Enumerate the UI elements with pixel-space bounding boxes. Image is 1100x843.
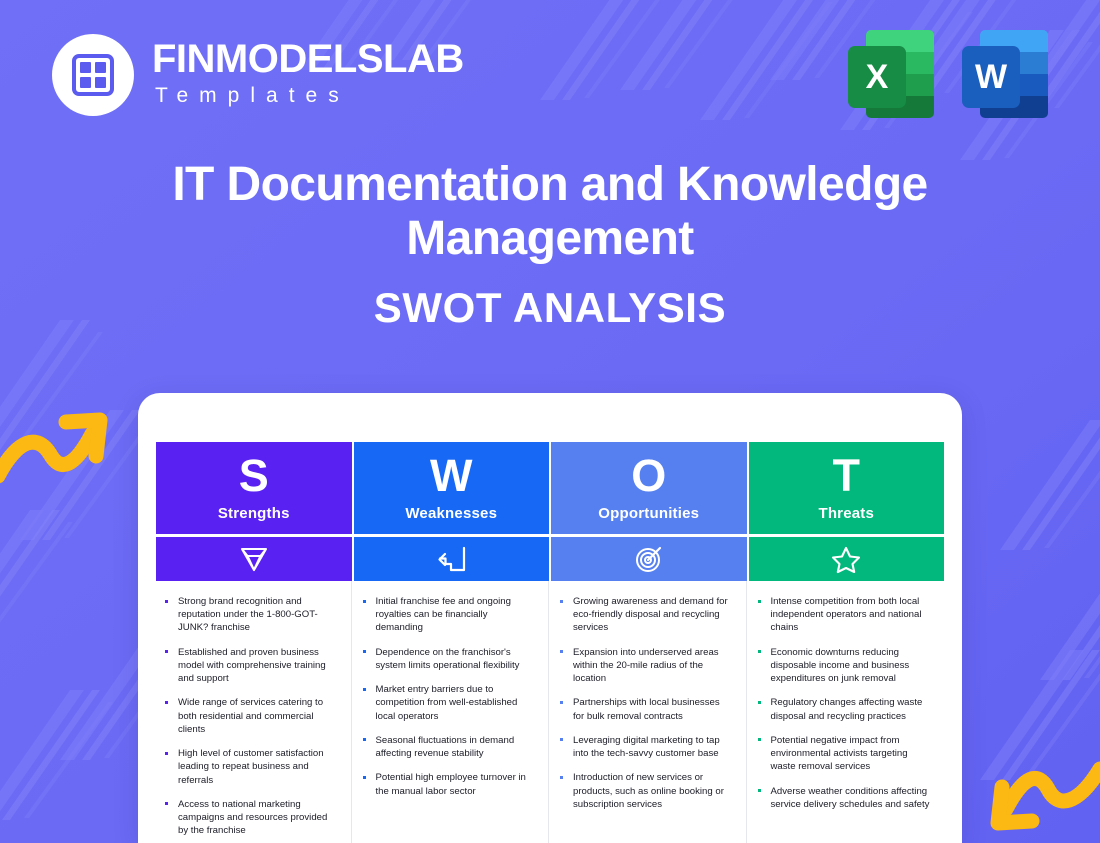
list-item: Market entry barriers due to competition… [360,683,536,723]
swot-title: Weaknesses [405,505,497,522]
swot-grid: S Strengths Strong brand recognition and… [156,442,944,843]
grid-icon [72,54,114,96]
swot-letter: T [833,454,861,498]
list-item: Initial franchise fee and ongoing royalt… [360,595,536,635]
squiggle-arrow-down-left-icon [974,755,1100,843]
swot-header-strengths: S Strengths [156,442,352,534]
list-item: Strong brand recognition and reputation … [162,595,338,635]
swot-icon-bar-opportunities [551,537,747,581]
title-block: IT Documentation and Knowledge Managemen… [0,158,1100,332]
swot-body-strengths: Strong brand recognition and reputation … [156,581,352,843]
list-item: Seasonal fluctuations in demand affectin… [360,734,536,760]
swot-letter: O [631,454,666,498]
list-item: Dependence on the franchisor's system li… [360,646,536,672]
swot-title: Strengths [218,505,290,522]
brand-logo: FINMODELSLAB Templates [52,34,464,116]
swot-column-strengths: S Strengths Strong brand recognition and… [156,442,352,843]
list-item: Wide range of services catering to both … [162,696,338,736]
page-title: IT Documentation and Knowledge Managemen… [0,158,1100,266]
brand-tagline: Templates [152,80,464,112]
swot-list-threats: Intense competition from both local inde… [755,595,932,811]
list-item: Intense competition from both local inde… [755,595,932,635]
swot-list-strengths: Strong brand recognition and reputation … [162,595,338,838]
list-item: High level of customer satisfaction lead… [162,747,338,787]
list-item: Access to national marketing campaigns a… [162,798,338,838]
list-item: Expansion into underserved areas within … [557,646,733,686]
list-item: Regulatory changes affecting waste dispo… [755,696,932,722]
excel-icon: X [848,30,934,118]
target-icon [634,544,664,574]
squiggle-arrow-up-right-icon [0,398,122,490]
swot-header-weaknesses: W Weaknesses [354,442,550,534]
swot-icon-bar-strengths [156,537,352,581]
list-item: Potential negative impact from environme… [755,734,932,774]
swot-header-opportunities: O Opportunities [551,442,747,534]
swot-letter: S [239,454,269,498]
list-item: Established and proven business model wi… [162,646,338,686]
swot-body-opportunities: Growing awareness and demand for eco-fri… [551,581,747,843]
list-item: Introduction of new services or products… [557,771,733,811]
list-item: Potential high employee turnover in the … [360,771,536,797]
swot-column-threats: T Threats Intense competition from both … [749,442,945,843]
swot-letter: W [430,454,472,498]
diamond-icon [239,545,269,573]
swot-title: Opportunities [598,505,699,522]
list-item: Economic downturns reducing disposable i… [755,646,932,686]
list-item: Partnerships with local businesses for b… [557,696,733,722]
brand-text: FINMODELSLAB Templates [152,39,464,111]
swot-icon-bar-weaknesses [354,537,550,581]
swot-body-weaknesses: Initial franchise fee and ongoing royalt… [354,581,550,843]
file-format-icons: X W [848,30,1048,118]
brand-name: FINMODELSLAB [152,39,464,80]
swot-card: S Strengths Strong brand recognition and… [138,393,962,843]
word-letter: W [962,46,1020,108]
excel-letter: X [848,46,906,108]
swot-list-opportunities: Growing awareness and demand for eco-fri… [557,595,733,811]
swot-body-threats: Intense competition from both local inde… [749,581,945,843]
swot-icon-bar-threats [749,537,945,581]
page-subtitle: SWOT ANALYSIS [0,284,1100,332]
swot-header-threats: T Threats [749,442,945,534]
list-item: Growing awareness and demand for eco-fri… [557,595,733,635]
star-icon [831,545,861,574]
swot-column-weaknesses: W Weaknesses Initial franchise fee and o… [354,442,550,843]
word-icon: W [962,30,1048,118]
swot-title: Threats [818,505,874,522]
swot-column-opportunities: O Opportunities Growing awareness and de… [551,442,747,843]
list-item: Adverse weather conditions affecting ser… [755,785,932,811]
list-item: Leveraging digital marketing to tap into… [557,734,733,760]
logo-badge [52,34,134,116]
descending-stairs-icon [435,545,467,573]
swot-list-weaknesses: Initial franchise fee and ongoing royalt… [360,595,536,798]
